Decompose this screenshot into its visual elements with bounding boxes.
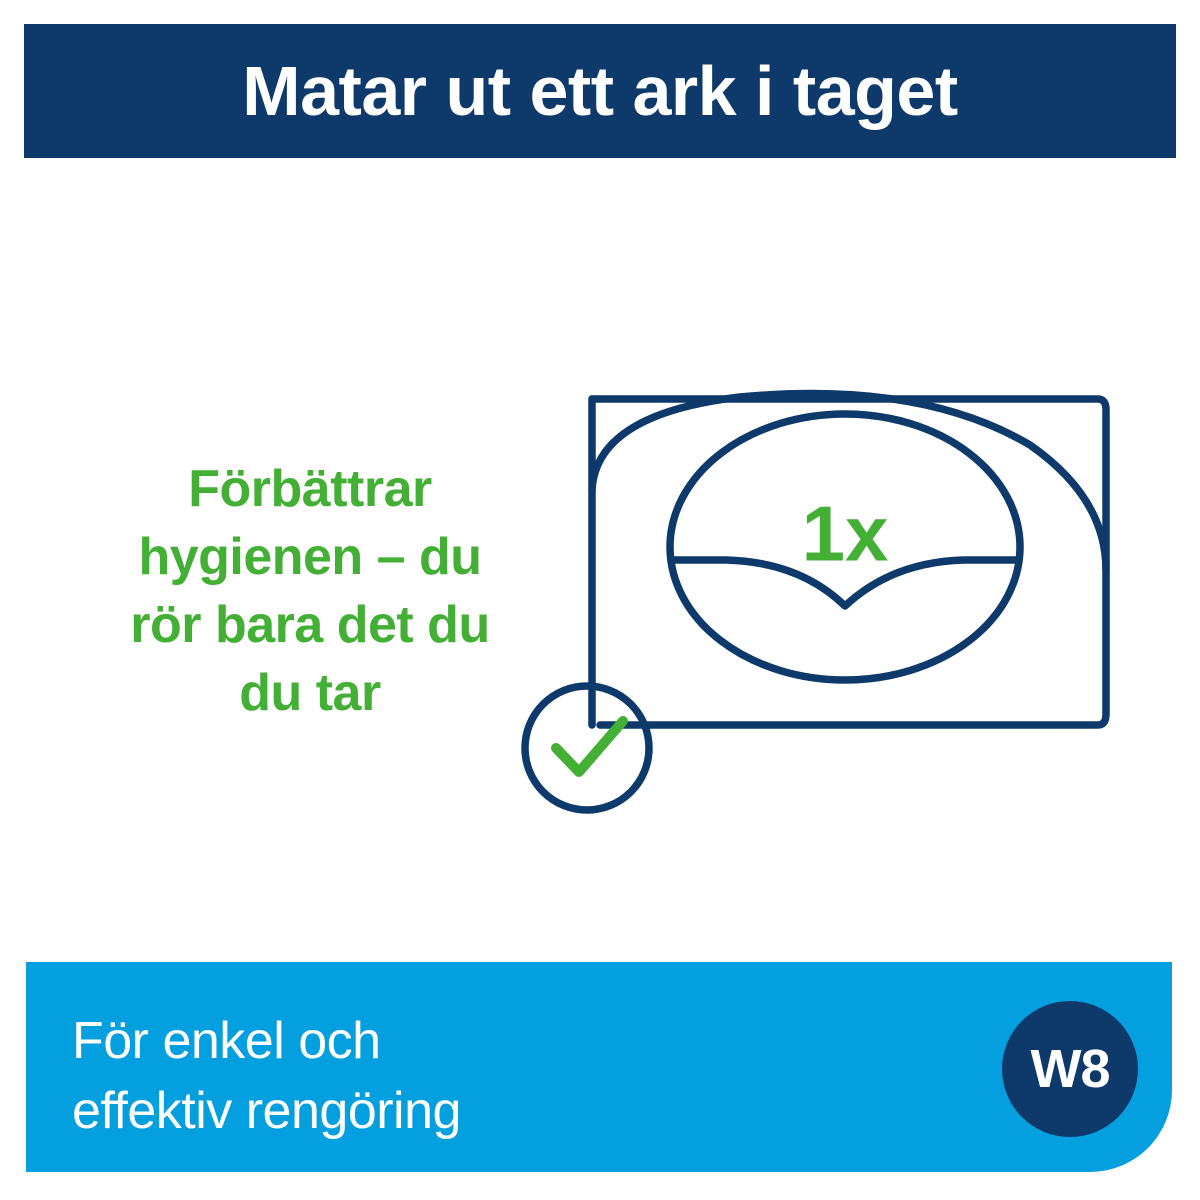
- header-banner: Matar ut ett ark i taget: [24, 24, 1176, 158]
- w8-badge-label: W8: [1031, 1042, 1110, 1096]
- benefit-line-1: Förbättrar: [70, 455, 550, 523]
- footer-banner: För enkel och effektiv rengöring: [26, 962, 1172, 1172]
- check-icon: [556, 721, 623, 772]
- benefit-line-2: hygienen – du: [70, 523, 550, 591]
- footer-line-2: effektiv rengöring: [72, 1076, 461, 1146]
- w8-badge: W8: [1002, 1001, 1138, 1137]
- benefit-line-4: du tar: [70, 659, 550, 727]
- footer-tagline: För enkel och effektiv rengöring: [72, 1006, 461, 1146]
- check-circle-outline: [525, 686, 649, 810]
- page-title: Matar ut ett ark i taget: [242, 56, 957, 126]
- product-feature-card: Matar ut ett ark i taget Förbättrar hygi…: [0, 0, 1200, 1200]
- dispenser-illustration: 1x: [500, 370, 1160, 840]
- benefit-text-block: Förbättrar hygienen – du rör bara det du…: [70, 455, 550, 727]
- footer-line-1: För enkel och: [72, 1006, 461, 1076]
- benefit-line-3: rör bara det du: [70, 591, 550, 659]
- count-label: 1x: [802, 490, 889, 578]
